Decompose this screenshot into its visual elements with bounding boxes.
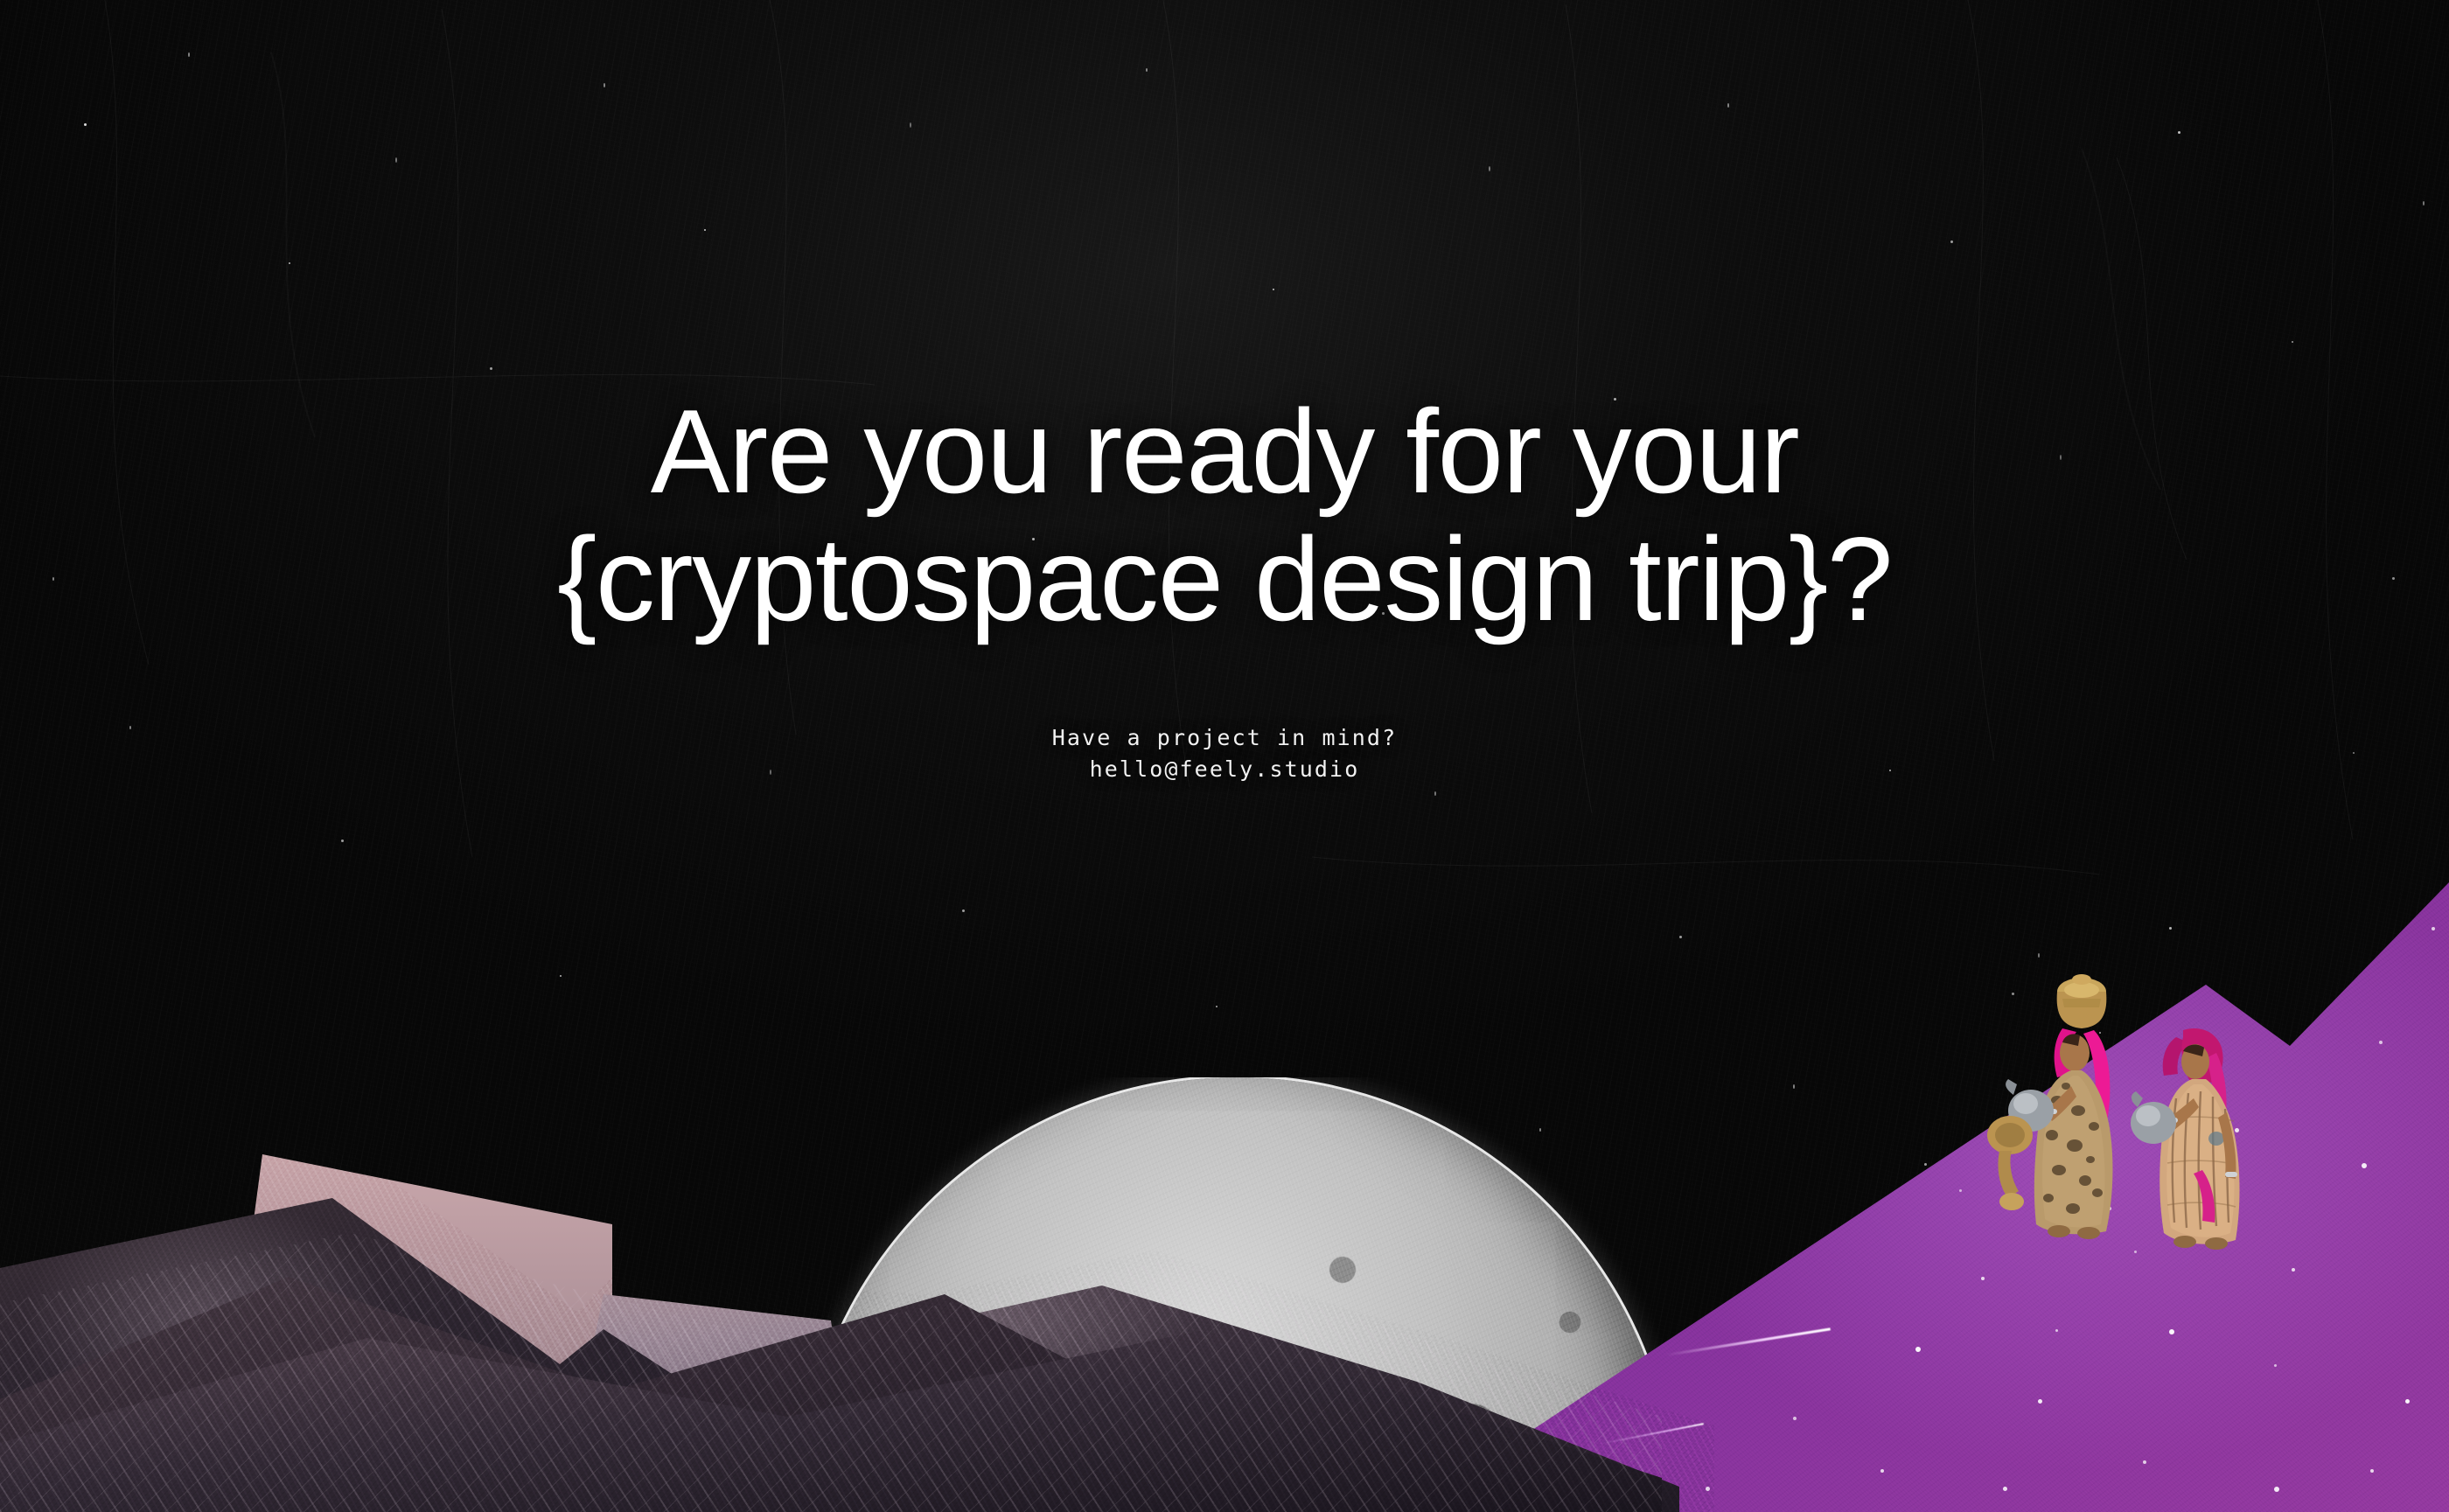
page-headline: Are you ready for your {cryptospace desi… xyxy=(0,387,2449,643)
water-pot-on-head xyxy=(2057,974,2107,1028)
woman-with-side-pot xyxy=(2125,1007,2327,1270)
headline-line-1: Are you ready for your xyxy=(0,387,2449,515)
contact-email-link[interactable]: hello@feely.studio xyxy=(0,754,2449,785)
rope-coil-vessel xyxy=(1987,1116,2033,1210)
contact-prompt: Have a project in mind? xyxy=(0,722,2449,754)
landing-hero: Are you ready for your {cryptospace desi… xyxy=(0,0,2449,1512)
headline-line-2: {cryptospace design trip}? xyxy=(0,515,2449,643)
metal-water-pot xyxy=(2131,1091,2176,1144)
contact-block: Have a project in mind? hello@feely.stud… xyxy=(0,722,2449,785)
